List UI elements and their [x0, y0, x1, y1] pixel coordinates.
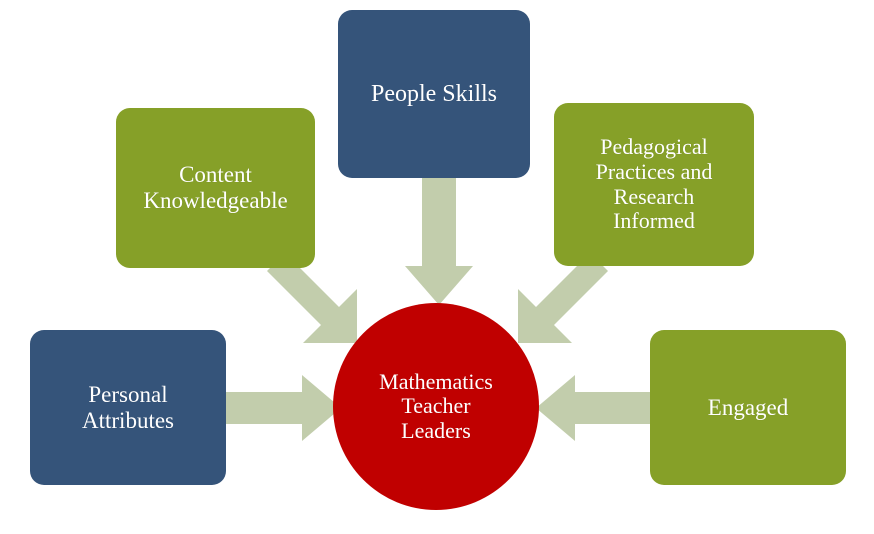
- node-personal-attributes[interactable]: Personal Attributes: [30, 330, 226, 485]
- node-mathematics-teacher-leaders[interactable]: Mathematics Teacher Leaders: [333, 303, 539, 510]
- arrow-engaged-to-center: [536, 375, 651, 441]
- arrow-personal-to-center: [226, 375, 341, 441]
- node-mathematics-teacher-leaders-label: Mathematics Teacher Leaders: [371, 370, 501, 444]
- node-personal-attributes-label: Personal Attributes: [74, 382, 182, 434]
- node-content-knowledgeable[interactable]: Content Knowledgeable: [116, 108, 315, 268]
- node-engaged[interactable]: Engaged: [650, 330, 846, 485]
- node-pedagogical-practices[interactable]: Pedagogical Practices and Research Infor…: [554, 103, 754, 266]
- node-people-skills-label: People Skills: [363, 81, 505, 108]
- arrow-people-to-center: [405, 178, 473, 305]
- arrow-pedagogical-to-center: [504, 253, 622, 345]
- node-content-knowledgeable-label: Content Knowledgeable: [135, 162, 295, 214]
- node-engaged-label: Engaged: [700, 395, 796, 421]
- node-people-skills[interactable]: People Skills: [338, 10, 530, 178]
- diagram-canvas: People Skills Content Knowledgeable Peda…: [0, 0, 874, 534]
- node-pedagogical-practices-label: Pedagogical Practices and Research Infor…: [588, 135, 721, 234]
